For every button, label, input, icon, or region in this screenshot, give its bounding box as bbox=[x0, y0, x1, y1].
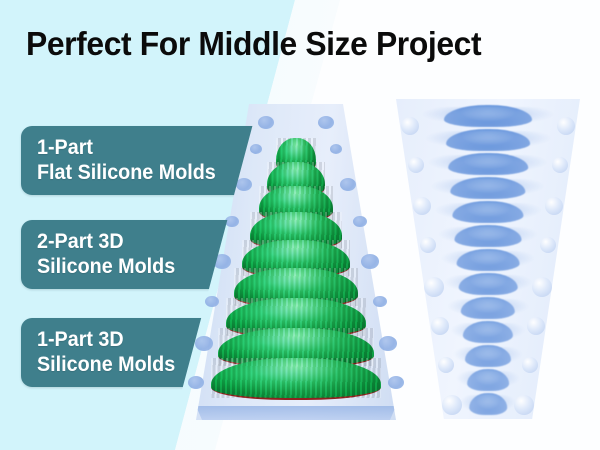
tree-tier bbox=[211, 358, 381, 400]
tree-cavity bbox=[452, 201, 523, 223]
mold-knob bbox=[438, 357, 454, 373]
mold-knob bbox=[431, 317, 449, 335]
christmas-tree-mold-empty bbox=[396, 99, 580, 419]
mold-knob bbox=[401, 117, 419, 135]
mold-knob bbox=[442, 395, 462, 415]
tree-cavity bbox=[459, 273, 518, 295]
feature-pill-2-line2: Silicone Molds bbox=[37, 254, 225, 279]
feature-pill-3-line2: Silicone Molds bbox=[37, 352, 209, 377]
feature-pill-3-line1: 1-Part 3D bbox=[37, 327, 209, 352]
feature-pill-2-line1: 2-Part 3D bbox=[37, 229, 225, 254]
tree-cavity bbox=[463, 321, 513, 343]
tree-cavity bbox=[461, 297, 515, 319]
mold-dimple bbox=[188, 376, 204, 389]
tree-cavity bbox=[469, 393, 507, 415]
mold-knob bbox=[557, 117, 575, 135]
tree-cavity bbox=[457, 249, 520, 271]
mold-knob bbox=[527, 317, 545, 335]
mold-knob bbox=[408, 157, 424, 173]
mold-knob bbox=[420, 237, 436, 253]
mold-knob bbox=[545, 197, 563, 215]
mold-knob bbox=[522, 357, 538, 373]
mold-knob bbox=[552, 157, 568, 173]
mold-knob bbox=[532, 277, 552, 297]
feature-pill-1-line2: Flat Silicone Molds bbox=[37, 160, 251, 185]
mold-dimple bbox=[258, 116, 274, 129]
tree-cavity bbox=[446, 129, 530, 151]
tree-cavity bbox=[455, 225, 522, 247]
tree-cavity bbox=[450, 177, 525, 199]
tree-cavity bbox=[465, 345, 511, 367]
tree-cavity bbox=[444, 105, 532, 127]
mold-knob bbox=[424, 277, 444, 297]
tree-cavity bbox=[467, 369, 509, 391]
slab-bottom-edge bbox=[196, 406, 396, 420]
tree-cavity bbox=[448, 153, 528, 175]
feature-pill-1-line1: 1-Part bbox=[37, 135, 251, 160]
mold-knob bbox=[413, 197, 431, 215]
mold-knob bbox=[540, 237, 556, 253]
mold-dimple bbox=[318, 116, 334, 129]
poster: Perfect For Middle Size Project 1-Part F… bbox=[0, 0, 600, 450]
mold-knob bbox=[514, 395, 534, 415]
